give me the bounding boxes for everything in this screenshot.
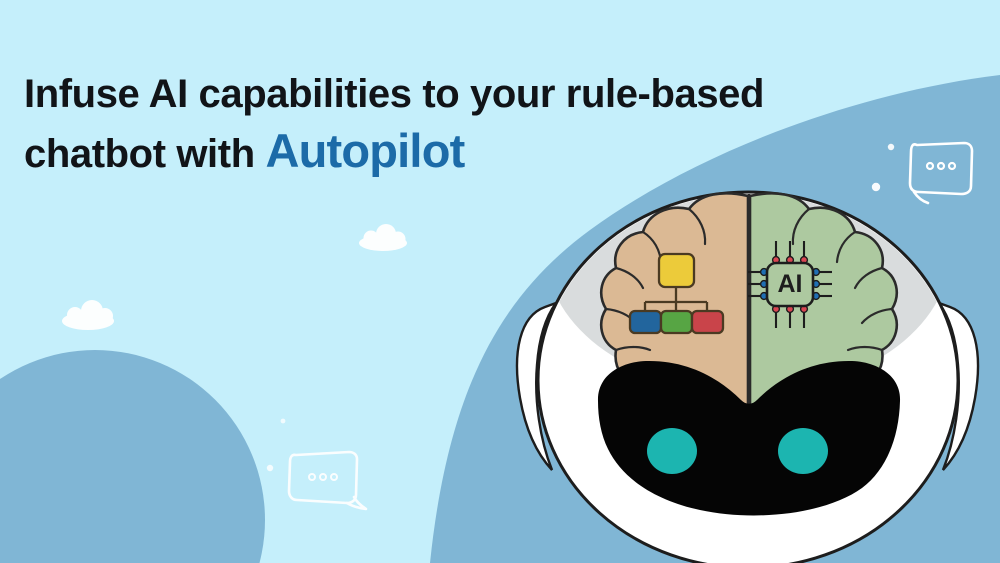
headline-accent-autopilot: Autopilot [265, 124, 464, 177]
flowchart-node-blue [630, 311, 661, 333]
autopilot-promo-banner: Infuse AI capabilities to your rule-base… [0, 0, 1000, 563]
headline-line-2-prefix: chatbot with [24, 132, 265, 176]
flowchart-node-green [661, 311, 692, 333]
page-title: Infuse AI capabilities to your rule-base… [24, 68, 644, 181]
headline-line-2: chatbot with Autopilot [24, 120, 644, 181]
flowchart-node-root [659, 254, 694, 287]
ai-chip-label: AI [778, 270, 803, 298]
robot-eye-left [647, 428, 697, 474]
headline-line-1: Infuse AI capabilities to your rule-base… [24, 68, 644, 120]
robot-eye-right [778, 428, 828, 474]
flowchart-node-red [692, 311, 723, 333]
